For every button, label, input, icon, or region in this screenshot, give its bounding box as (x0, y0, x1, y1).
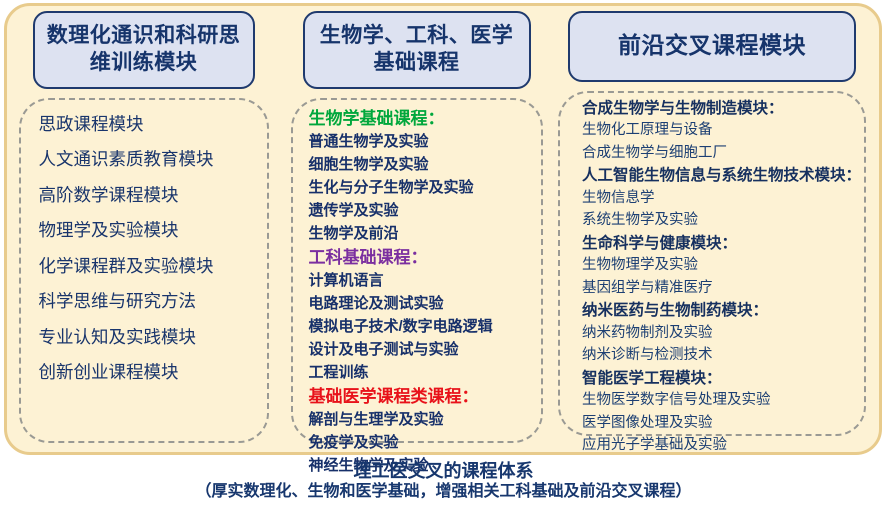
list-item: 免疫学及实验 (309, 435, 541, 450)
list-item: 科学思维与研究方法 (39, 293, 267, 311)
list-item: 生物医学数字信号处理及实验 (582, 393, 864, 408)
list-item: 细胞生物学及实验 (309, 157, 541, 172)
column-header-general-science: 数理化通识和科研思 维训练模块 (33, 11, 255, 89)
list-item: 应用光子学基础及实验 (582, 438, 864, 453)
diagram-root: 数理化通识和科研思 维训练模块 思政课程模块 人文通识素质教育模块 高阶数学课程… (0, 0, 887, 520)
column-header-bio-eng-med-basics: 生物学、工科、医学 基础课程 (303, 11, 531, 89)
list-item: 思政课程模块 (39, 116, 267, 134)
list-item: 创新创业课程模块 (39, 364, 267, 382)
list-item: 电路理论及测试实验 (309, 296, 541, 311)
list-item: 化学课程群及实验模块 (39, 258, 267, 276)
header-line-2: 基础课程 (311, 49, 523, 76)
group-title: 工科基础课程： (309, 249, 541, 266)
list-item: 医学图像处理及实验 (582, 416, 864, 431)
header-line-1: 数理化通识和科研思 (41, 22, 247, 49)
list-item: 专业认知及实践模块 (39, 329, 267, 347)
group-ai-bioinformatics: 人工智能生物信息与系统生物技术模块： 生物信息学 系统生物学及实验 (582, 168, 864, 228)
column-general-science: 数理化通识和科研思 维训练模块 思政课程模块 人文通识素质教育模块 高阶数学课程… (12, 11, 275, 443)
list-item: 生物学及前沿 (309, 226, 541, 241)
group-title: 智能医学工程模块： (582, 371, 864, 387)
list-item: 生物信息学 (582, 191, 864, 206)
header-line-1: 前沿交叉课程模块 (576, 31, 848, 61)
group-synthetic-biology: 合成生物学与生物制造模块： 生物化工原理与设备 合成生物学与细胞工厂 (582, 101, 864, 161)
list-item: 纳米药物制剂及实验 (582, 326, 864, 341)
group-engineering-basics: 工科基础课程： 计算机语言 电路理论及测试实验 模拟电子技术/数字电路逻辑 设计… (309, 249, 541, 380)
list-item: 高阶数学课程模块 (39, 187, 267, 205)
group-title: 生命科学与健康模块： (582, 236, 864, 252)
header-line-2: 维训练模块 (41, 49, 247, 76)
group-life-science-health: 生命科学与健康模块： 生物物理学及实验 基因组学与精准医疗 (582, 236, 864, 296)
diagram-caption: 理工医交叉的课程体系 （厚实数理化、生物和医学基础，增强相关工科基础及前沿交叉课… (0, 461, 887, 502)
list-item: 生化与分子生物学及实验 (309, 180, 541, 195)
list-item: 生物物理学及实验 (582, 258, 864, 273)
group-title: 基础医学课程类课程： (309, 388, 541, 405)
list-item: 设计及电子测试与实验 (309, 342, 541, 357)
list-item: 遗传学及实验 (309, 203, 541, 218)
list-item: 物理学及实验模块 (39, 222, 267, 240)
group-title: 生物学基础课程： (309, 110, 541, 127)
list-item: 合成生物学与细胞工厂 (582, 146, 864, 161)
group-title: 人工智能生物信息与系统生物技术模块： (582, 168, 864, 184)
list-item: 系统生物学及实验 (582, 213, 864, 228)
list-item: 工程训练 (309, 365, 541, 380)
list-item: 模拟电子技术/数字电路逻辑 (309, 319, 541, 334)
column-frontier-interdisciplinary: 前沿交叉课程模块 合成生物学与生物制造模块： 生物化工原理与设备 合成生物学与细… (558, 11, 866, 436)
group-intelligent-medical-engineering: 智能医学工程模块： 生物医学数字信号处理及实验 医学图像处理及实验 应用光子学基… (582, 371, 864, 453)
group-nano-medicine: 纳米医药与生物制药模块： 纳米药物制剂及实验 纳米诊断与检测技术 (582, 303, 864, 363)
columns-row: 数理化通识和科研思 维训练模块 思政课程模块 人文通识素质教育模块 高阶数学课程… (0, 0, 878, 452)
group-title: 纳米医药与生物制药模块： (582, 303, 864, 319)
group-basic-medicine: 基础医学课程类课程： 解剖与生理学及实验 免疫学及实验 神经生物学及实验 (309, 388, 541, 473)
caption-subtitle: （厚实数理化、生物和医学基础，增强相关工科基础及前沿交叉课程） (0, 482, 887, 502)
column-bio-eng-med-basics: 生物学、工科、医学 基础课程 生物学基础课程： 普通生物学及实验 细胞生物学及实… (285, 11, 548, 443)
list-item: 人文通识素质教育模块 (39, 151, 267, 169)
list-item: 生物化工原理与设备 (582, 123, 864, 138)
header-line-1: 生物学、工科、医学 (311, 22, 523, 49)
group-biology-basics: 生物学基础课程： 普通生物学及实验 细胞生物学及实验 生化与分子生物学及实验 遗… (309, 110, 541, 241)
panel-general-science: 思政课程模块 人文通识素质教育模块 高阶数学课程模块 物理学及实验模块 化学课程… (19, 98, 269, 443)
list-item: 基因组学与精准医疗 (582, 281, 864, 296)
list-item: 解剖与生理学及实验 (309, 412, 541, 427)
list-item: 普通生物学及实验 (309, 134, 541, 149)
list-item: 纳米诊断与检测技术 (582, 348, 864, 363)
list-item: 计算机语言 (309, 273, 541, 288)
column-header-frontier-interdisciplinary: 前沿交叉课程模块 (568, 11, 856, 82)
caption-title: 理工医交叉的课程体系 (0, 461, 887, 482)
group-title: 合成生物学与生物制造模块： (582, 101, 864, 117)
panel-bio-eng-med-basics: 生物学基础课程： 普通生物学及实验 细胞生物学及实验 生化与分子生物学及实验 遗… (291, 98, 543, 443)
panel-frontier-interdisciplinary: 合成生物学与生物制造模块： 生物化工原理与设备 合成生物学与细胞工厂 人工智能生… (558, 91, 866, 436)
